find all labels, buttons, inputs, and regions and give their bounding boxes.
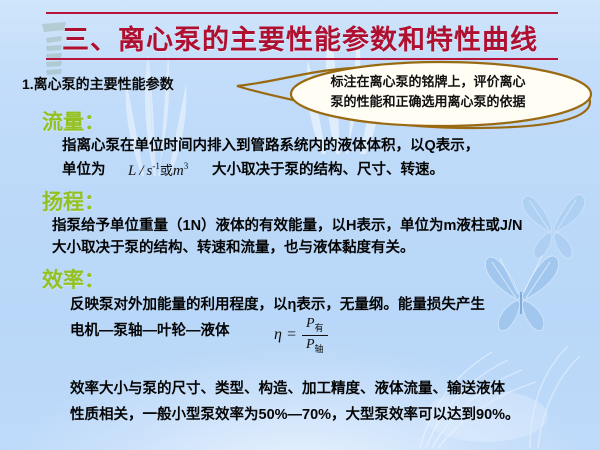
section-heading: 1.离心泵的主要性能参数	[22, 74, 174, 94]
flow-unit-formula: L / s-1或m3	[128, 160, 188, 180]
butterfly-icon-upper	[480, 248, 562, 334]
fraction-bar-icon	[302, 335, 328, 336]
term-flow-line-2-prefix: 单位为	[62, 159, 106, 181]
term-head-line-1: 指泵给予单位重量（1N）液体的有效能量，以H表示，单位为m液柱或J/N	[52, 215, 522, 237]
term-efficiency-line-1: 反映泵对外加能量的利用程度，以η表示，无量纲。能量损失产生	[70, 294, 485, 316]
efficiency-formula: η = P有 P轴	[274, 316, 328, 355]
callout-text: 标注在离心泵的铭牌上，评价离心 泵的性能和正确选用离心泵的依据	[298, 72, 558, 112]
title-rule-top	[46, 12, 558, 14]
footer-line-2: 性质相关，一般小型泵效率为50%—70%，大型泵效率可以达到90%。	[70, 404, 520, 426]
efficiency-formula-fraction: P有 P轴	[302, 316, 328, 355]
term-efficiency-line-2: 电机—泵轴—叶轮—液体	[70, 320, 230, 342]
flow-unit-formula-text: L / s-1或m3	[128, 163, 188, 179]
efficiency-formula-equals: =	[286, 326, 297, 344]
term-label-efficiency: 效率：	[42, 264, 105, 294]
term-flow-line-1: 指离心泵在单位时间内排入到管路系统内的液体体积，以Q表示，	[62, 135, 479, 157]
term-flow-line-2-tail: 大小取决于泵的结构、尺寸、转速。	[212, 159, 444, 181]
slide-canvas: 三、离心泵的主要性能参数和特性曲线 1.离心泵的主要性能参数 标注在离心泵的铭牌…	[0, 0, 600, 450]
term-label-head: 扬程：	[42, 186, 105, 216]
efficiency-formula-lhs: η	[274, 326, 282, 344]
callout-line-2: 泵的性能和正确选用离心泵的依据	[298, 92, 558, 112]
grass-icon-bottom-right	[380, 300, 590, 450]
callout-balloon: 标注在离心泵的铭牌上，评价离心 泵的性能和正确选用离心泵的依据	[236, 58, 598, 130]
footer-line-1: 效率大小与泵的尺寸、类型、构造、加工精度、液体流量、输送液体	[70, 378, 505, 400]
page-title: 三、离心泵的主要性能参数和特性曲线	[62, 18, 538, 57]
term-label-flow: 流量：	[42, 106, 105, 136]
slide-title-band: 三、离心泵的主要性能参数和特性曲线	[0, 18, 600, 57]
term-head-line-2: 大小取决于泵的结构、转速和流量，也与液体黏度有关。	[52, 237, 415, 259]
butterfly-icon-lower	[518, 188, 588, 262]
efficiency-formula-denominator: P轴	[304, 337, 326, 355]
efficiency-formula-numerator: P有	[304, 316, 326, 334]
callout-line-1: 标注在离心泵的铭牌上，评价离心	[298, 72, 558, 92]
